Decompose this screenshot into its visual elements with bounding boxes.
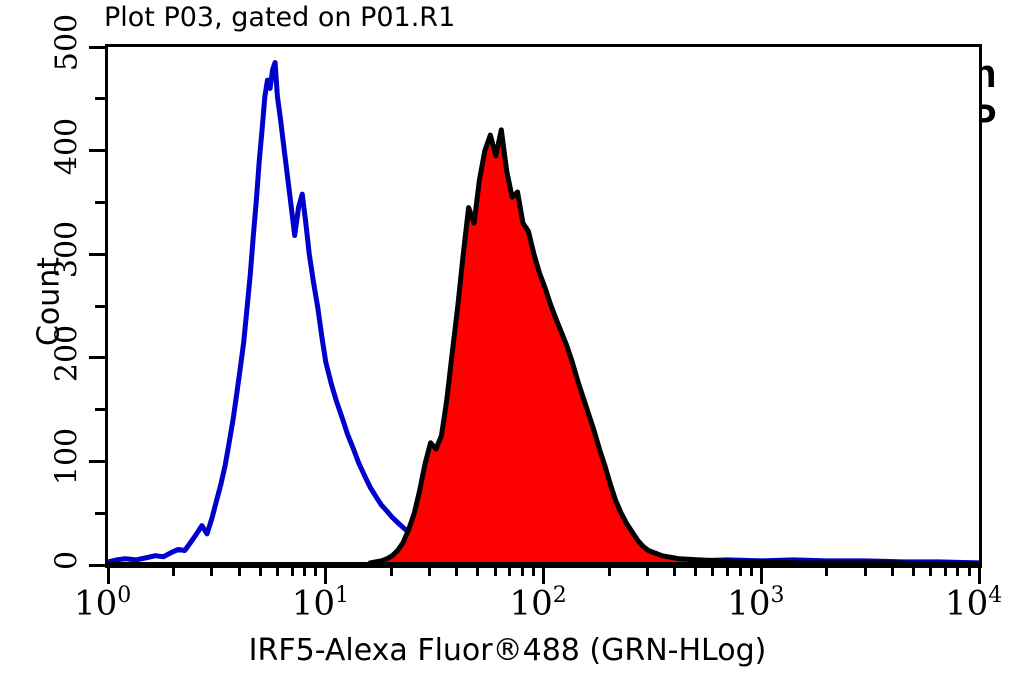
- y-tick-minor: [95, 305, 105, 308]
- x-tick-exponent: 1: [335, 583, 349, 608]
- chart-root: Plot P03, gated on P01.R1 Proteintech 10…: [0, 0, 1015, 683]
- x-tick-minor: [259, 565, 262, 576]
- x-tick-minor: [455, 565, 458, 576]
- x-tick-mantissa: 10: [727, 583, 770, 623]
- x-tick-minor: [891, 565, 894, 576]
- x-tick-mantissa: 10: [945, 583, 988, 623]
- x-tick-minor: [314, 565, 317, 576]
- x-tick-minor: [646, 565, 649, 576]
- x-tick-minor: [521, 565, 524, 576]
- x-tick-minor: [912, 565, 915, 576]
- y-tick-major: [89, 564, 105, 567]
- x-tick-minor: [726, 565, 729, 576]
- x-tick-exponent: 2: [553, 583, 567, 608]
- x-tick-mantissa: 10: [74, 583, 117, 623]
- x-tick-minor: [172, 565, 175, 576]
- y-tick-minor: [95, 512, 105, 515]
- x-tick-minor: [476, 565, 479, 576]
- x-tick-minor: [291, 565, 294, 576]
- x-tick-exponent: 0: [117, 583, 131, 608]
- x-tick-major: [760, 565, 763, 584]
- y-tick-major: [89, 356, 105, 359]
- y-axis-label: Count: [32, 152, 67, 452]
- x-tick-minor: [608, 565, 611, 576]
- x-tick-major: [542, 565, 545, 584]
- x-tick-minor: [956, 565, 959, 576]
- x-tick-label: 100: [74, 583, 131, 623]
- x-tick-minor: [276, 565, 279, 576]
- x-tick-exponent: 3: [771, 583, 785, 608]
- x-tick-minor: [968, 565, 971, 576]
- x-tick-label: 104: [945, 583, 1002, 623]
- x-tick-minor: [428, 565, 431, 576]
- y-tick-major: [89, 253, 105, 256]
- y-tick-minor: [95, 97, 105, 100]
- x-tick-label: 101: [292, 583, 349, 623]
- x-tick-minor: [944, 565, 947, 576]
- x-tick-label: 102: [510, 583, 567, 623]
- x-tick-mantissa: 10: [292, 583, 335, 623]
- x-tick-minor: [238, 565, 241, 576]
- y-tick-major: [89, 46, 105, 49]
- x-tick-minor: [711, 565, 714, 576]
- y-tick-minor: [95, 408, 105, 411]
- x-tick-minor: [532, 565, 535, 576]
- x-tick-label: 103: [727, 583, 784, 623]
- x-axis-label: IRF5-Alexa Fluor®488 (GRN-HLog): [0, 633, 1015, 668]
- x-tick-minor: [210, 565, 213, 576]
- x-tick-major: [978, 565, 981, 584]
- plot-frame: [105, 44, 982, 568]
- x-tick-minor: [390, 565, 393, 576]
- series-irf5-stained: [370, 130, 979, 565]
- x-tick-minor: [494, 565, 497, 576]
- x-tick-minor: [750, 565, 753, 576]
- x-tick-exponent: 4: [988, 583, 1002, 608]
- x-tick-minor: [694, 565, 697, 576]
- y-tick-minor: [95, 201, 105, 204]
- y-tick-label: 500: [50, 3, 85, 83]
- x-tick-minor: [825, 565, 828, 576]
- x-tick-mantissa: 10: [510, 583, 553, 623]
- plot-title: Plot P03, gated on P01.R1: [104, 2, 455, 33]
- x-tick-major: [324, 565, 327, 584]
- y-tick-major: [89, 460, 105, 463]
- x-tick-minor: [673, 565, 676, 576]
- x-tick-minor: [739, 565, 742, 576]
- x-tick-minor: [864, 565, 867, 576]
- x-tick-major: [107, 565, 110, 584]
- x-tick-minor: [303, 565, 306, 576]
- histogram-canvas: [108, 47, 979, 565]
- x-tick-minor: [929, 565, 932, 576]
- y-tick-major: [89, 149, 105, 152]
- x-tick-minor: [508, 565, 511, 576]
